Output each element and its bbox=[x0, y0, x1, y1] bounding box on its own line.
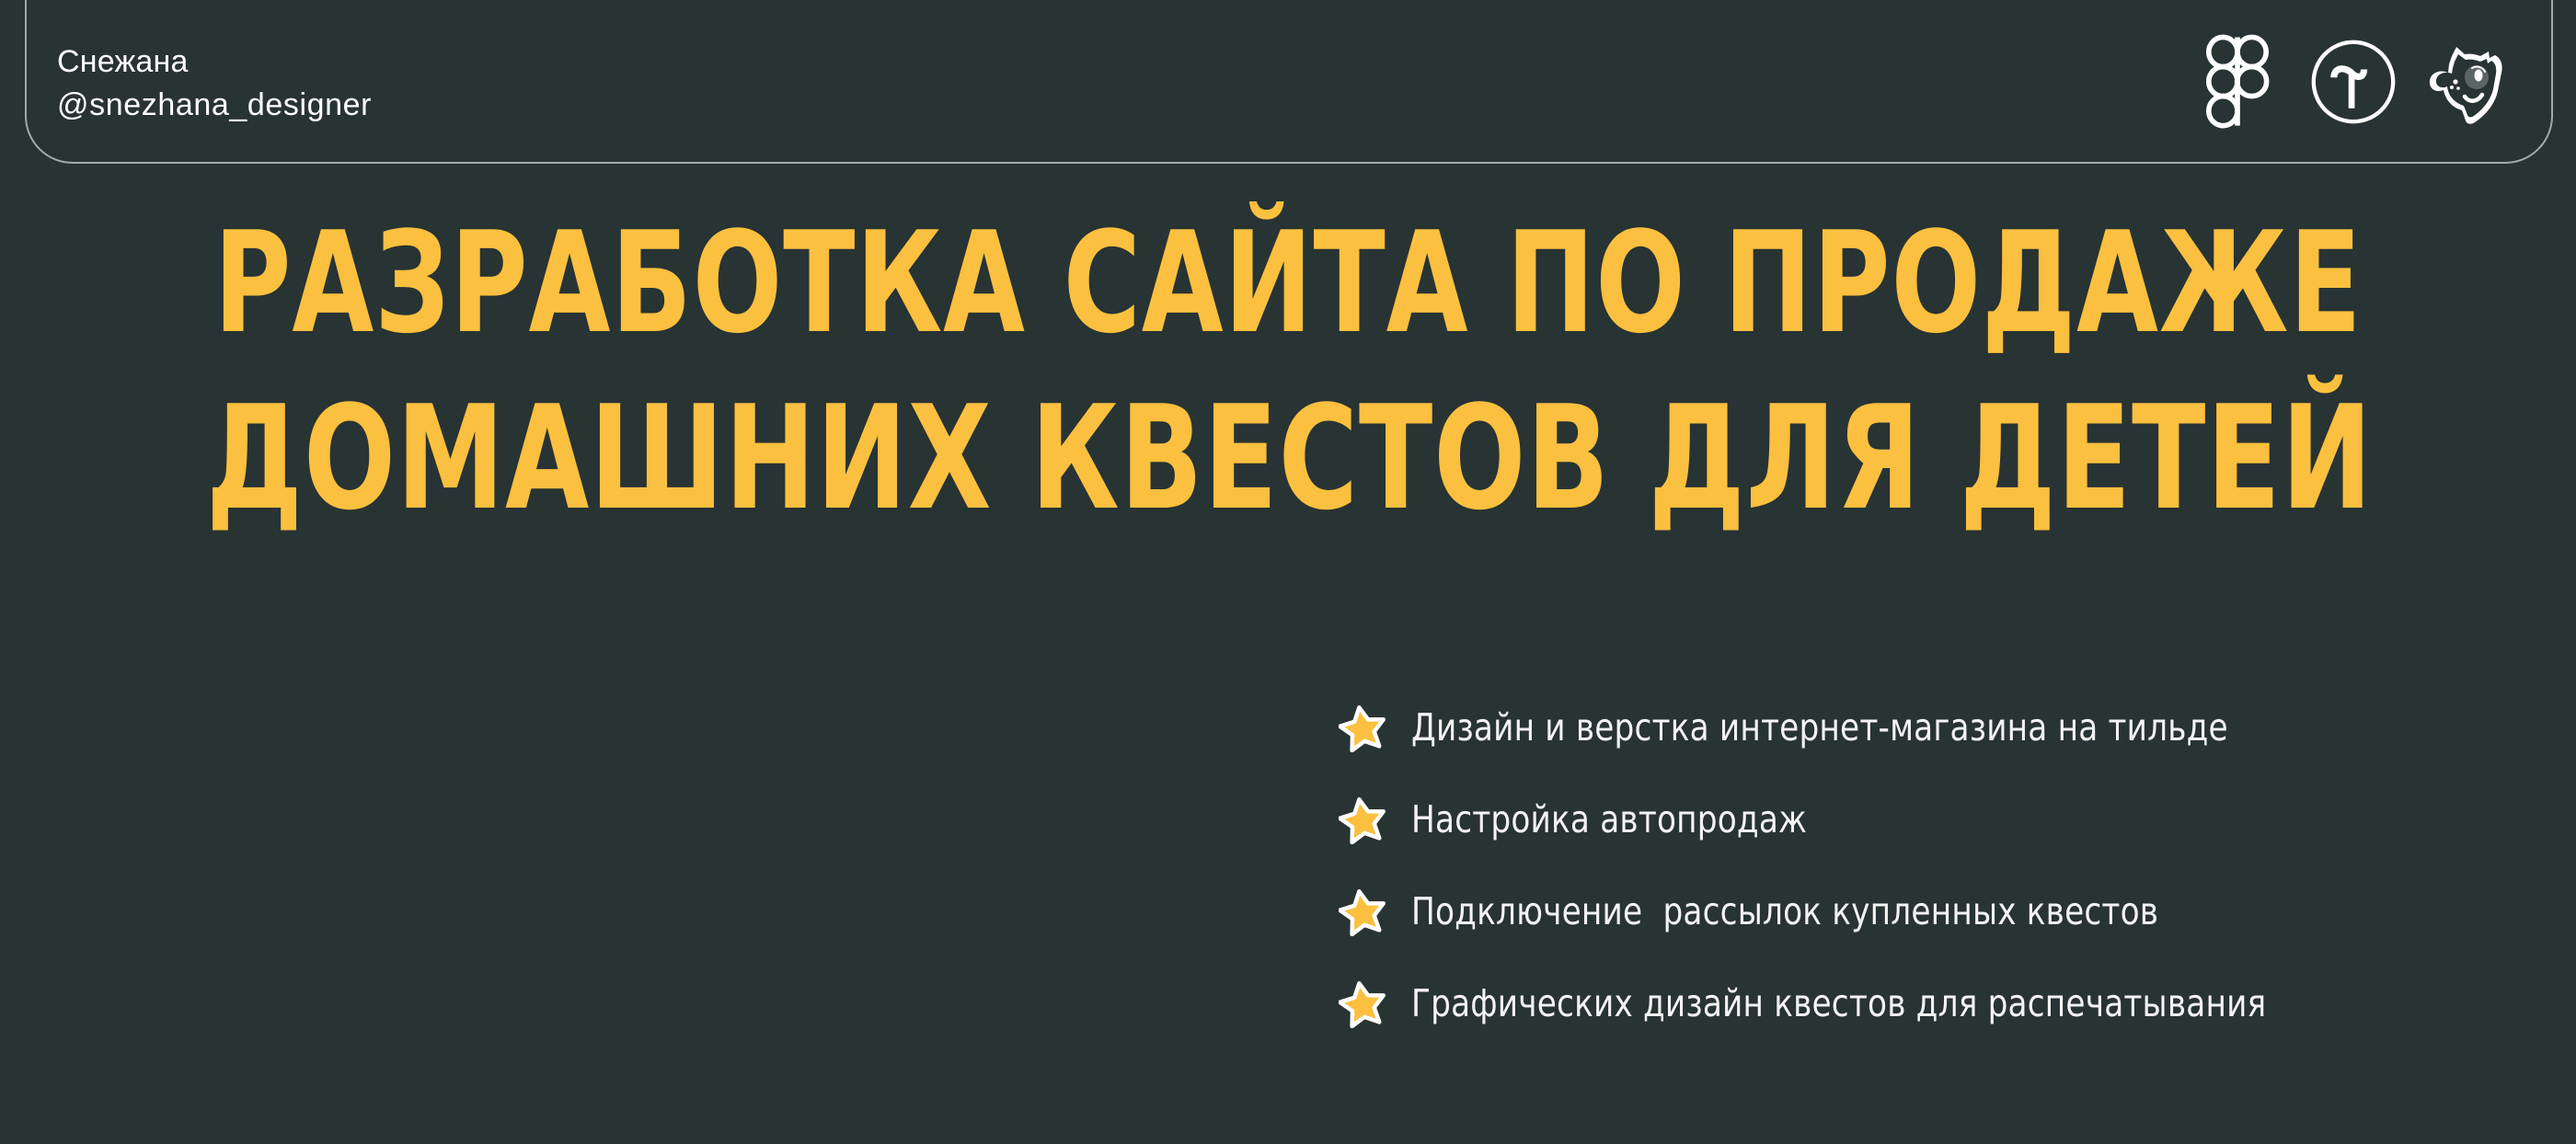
star-icon bbox=[1339, 796, 1386, 844]
dog-mascot-icon[interactable] bbox=[2421, 34, 2517, 130]
list-item-label: Подключение рассылок купленных квестов bbox=[1411, 891, 2158, 932]
author-name: Снежана bbox=[57, 40, 372, 84]
feature-list: Дизайн и верстка интернет-магазина на ти… bbox=[1339, 682, 2535, 1050]
title-line-1: РАЗРАБОТКА САЙТА ПО ПРОДАЖЕ bbox=[206, 196, 2370, 371]
list-item: Графических дизайн квестов для распечаты… bbox=[1339, 958, 2535, 1050]
list-item: Настройка автопродаж bbox=[1339, 774, 2535, 866]
title-line-2: ДОМАШНИХ КВЕСТОВ ДЛЯ ДЕТЕЙ bbox=[206, 371, 2370, 545]
list-item-label: Дизайн и верстка интернет-магазина на ти… bbox=[1411, 707, 2228, 749]
author-handle: @snezhana_designer bbox=[57, 84, 372, 127]
list-item: Дизайн и верстка интернет-магазина на ти… bbox=[1339, 682, 2535, 774]
list-item: Подключение рассылок купленных квестов bbox=[1339, 866, 2535, 958]
page-title: РАЗРАБОТКА САЙТА ПО ПРОДАЖЕ ДОМАШНИХ КВЕ… bbox=[0, 196, 2576, 545]
star-icon bbox=[1339, 888, 1386, 936]
star-icon bbox=[1339, 980, 1386, 1028]
list-item-label: Настройка автопродаж bbox=[1411, 799, 1807, 841]
star-icon bbox=[1339, 704, 1386, 752]
tilda-icon[interactable] bbox=[2306, 34, 2401, 130]
author-block: Снежана @snezhana_designer bbox=[57, 37, 372, 127]
slide-canvas: Снежана @snezhana_designer bbox=[0, 0, 2576, 1144]
list-item-label: Графических дизайн квестов для распечаты… bbox=[1411, 983, 2266, 1024]
tool-icon-group bbox=[2190, 34, 2541, 130]
header: Снежана @snezhana_designer bbox=[0, 0, 2576, 164]
figma-icon[interactable] bbox=[2190, 34, 2285, 130]
